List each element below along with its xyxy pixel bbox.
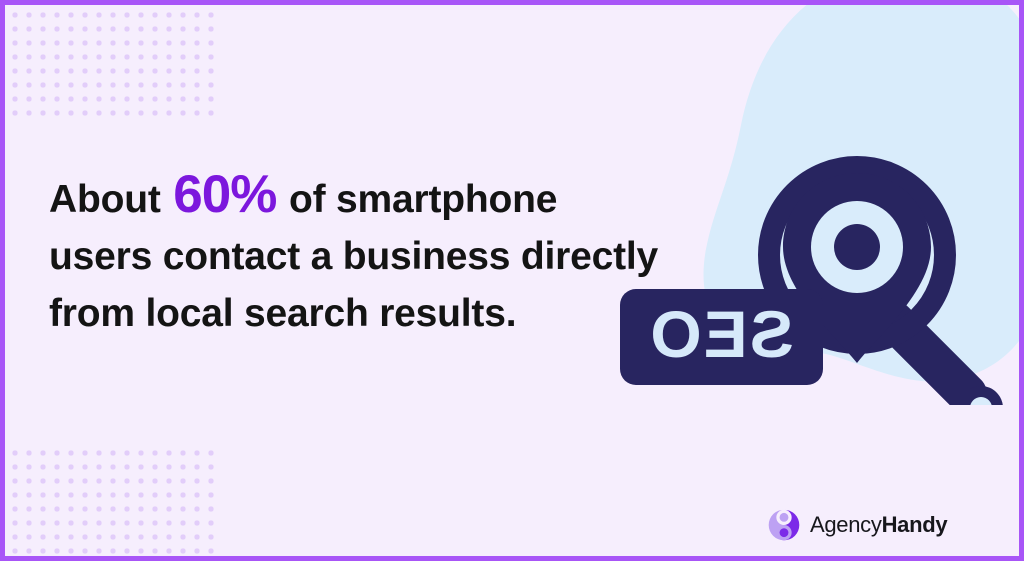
agencyhandy-logo-mark-icon xyxy=(767,508,801,542)
headline-line-1: About 60% of smartphone xyxy=(49,168,669,228)
headline-line-3: from local search results. xyxy=(49,285,669,342)
page-title: About 60% of smartphone users contact a … xyxy=(49,168,669,342)
seo-badge: SEO xyxy=(620,289,823,385)
brand-name-light: Agency xyxy=(810,512,882,537)
brand-name-bold: Handy xyxy=(882,512,948,537)
dot-grid-top-left xyxy=(5,5,217,117)
headline-suffix: of smartphone xyxy=(278,178,557,221)
headline-line-2: users contact a business directly xyxy=(49,228,669,285)
seo-illustration: SEO xyxy=(595,125,1015,405)
stat-card: About 60% of smartphone users contact a … xyxy=(0,0,1024,561)
brand-name: AgencyHandy xyxy=(810,512,947,538)
dot-grid-bottom-left xyxy=(5,443,217,561)
seo-badge-label: SEO xyxy=(648,297,793,371)
headline-percent: 60% xyxy=(171,165,278,224)
brand-logo: AgencyHandy xyxy=(767,508,947,542)
headline-prefix: About xyxy=(49,178,171,221)
